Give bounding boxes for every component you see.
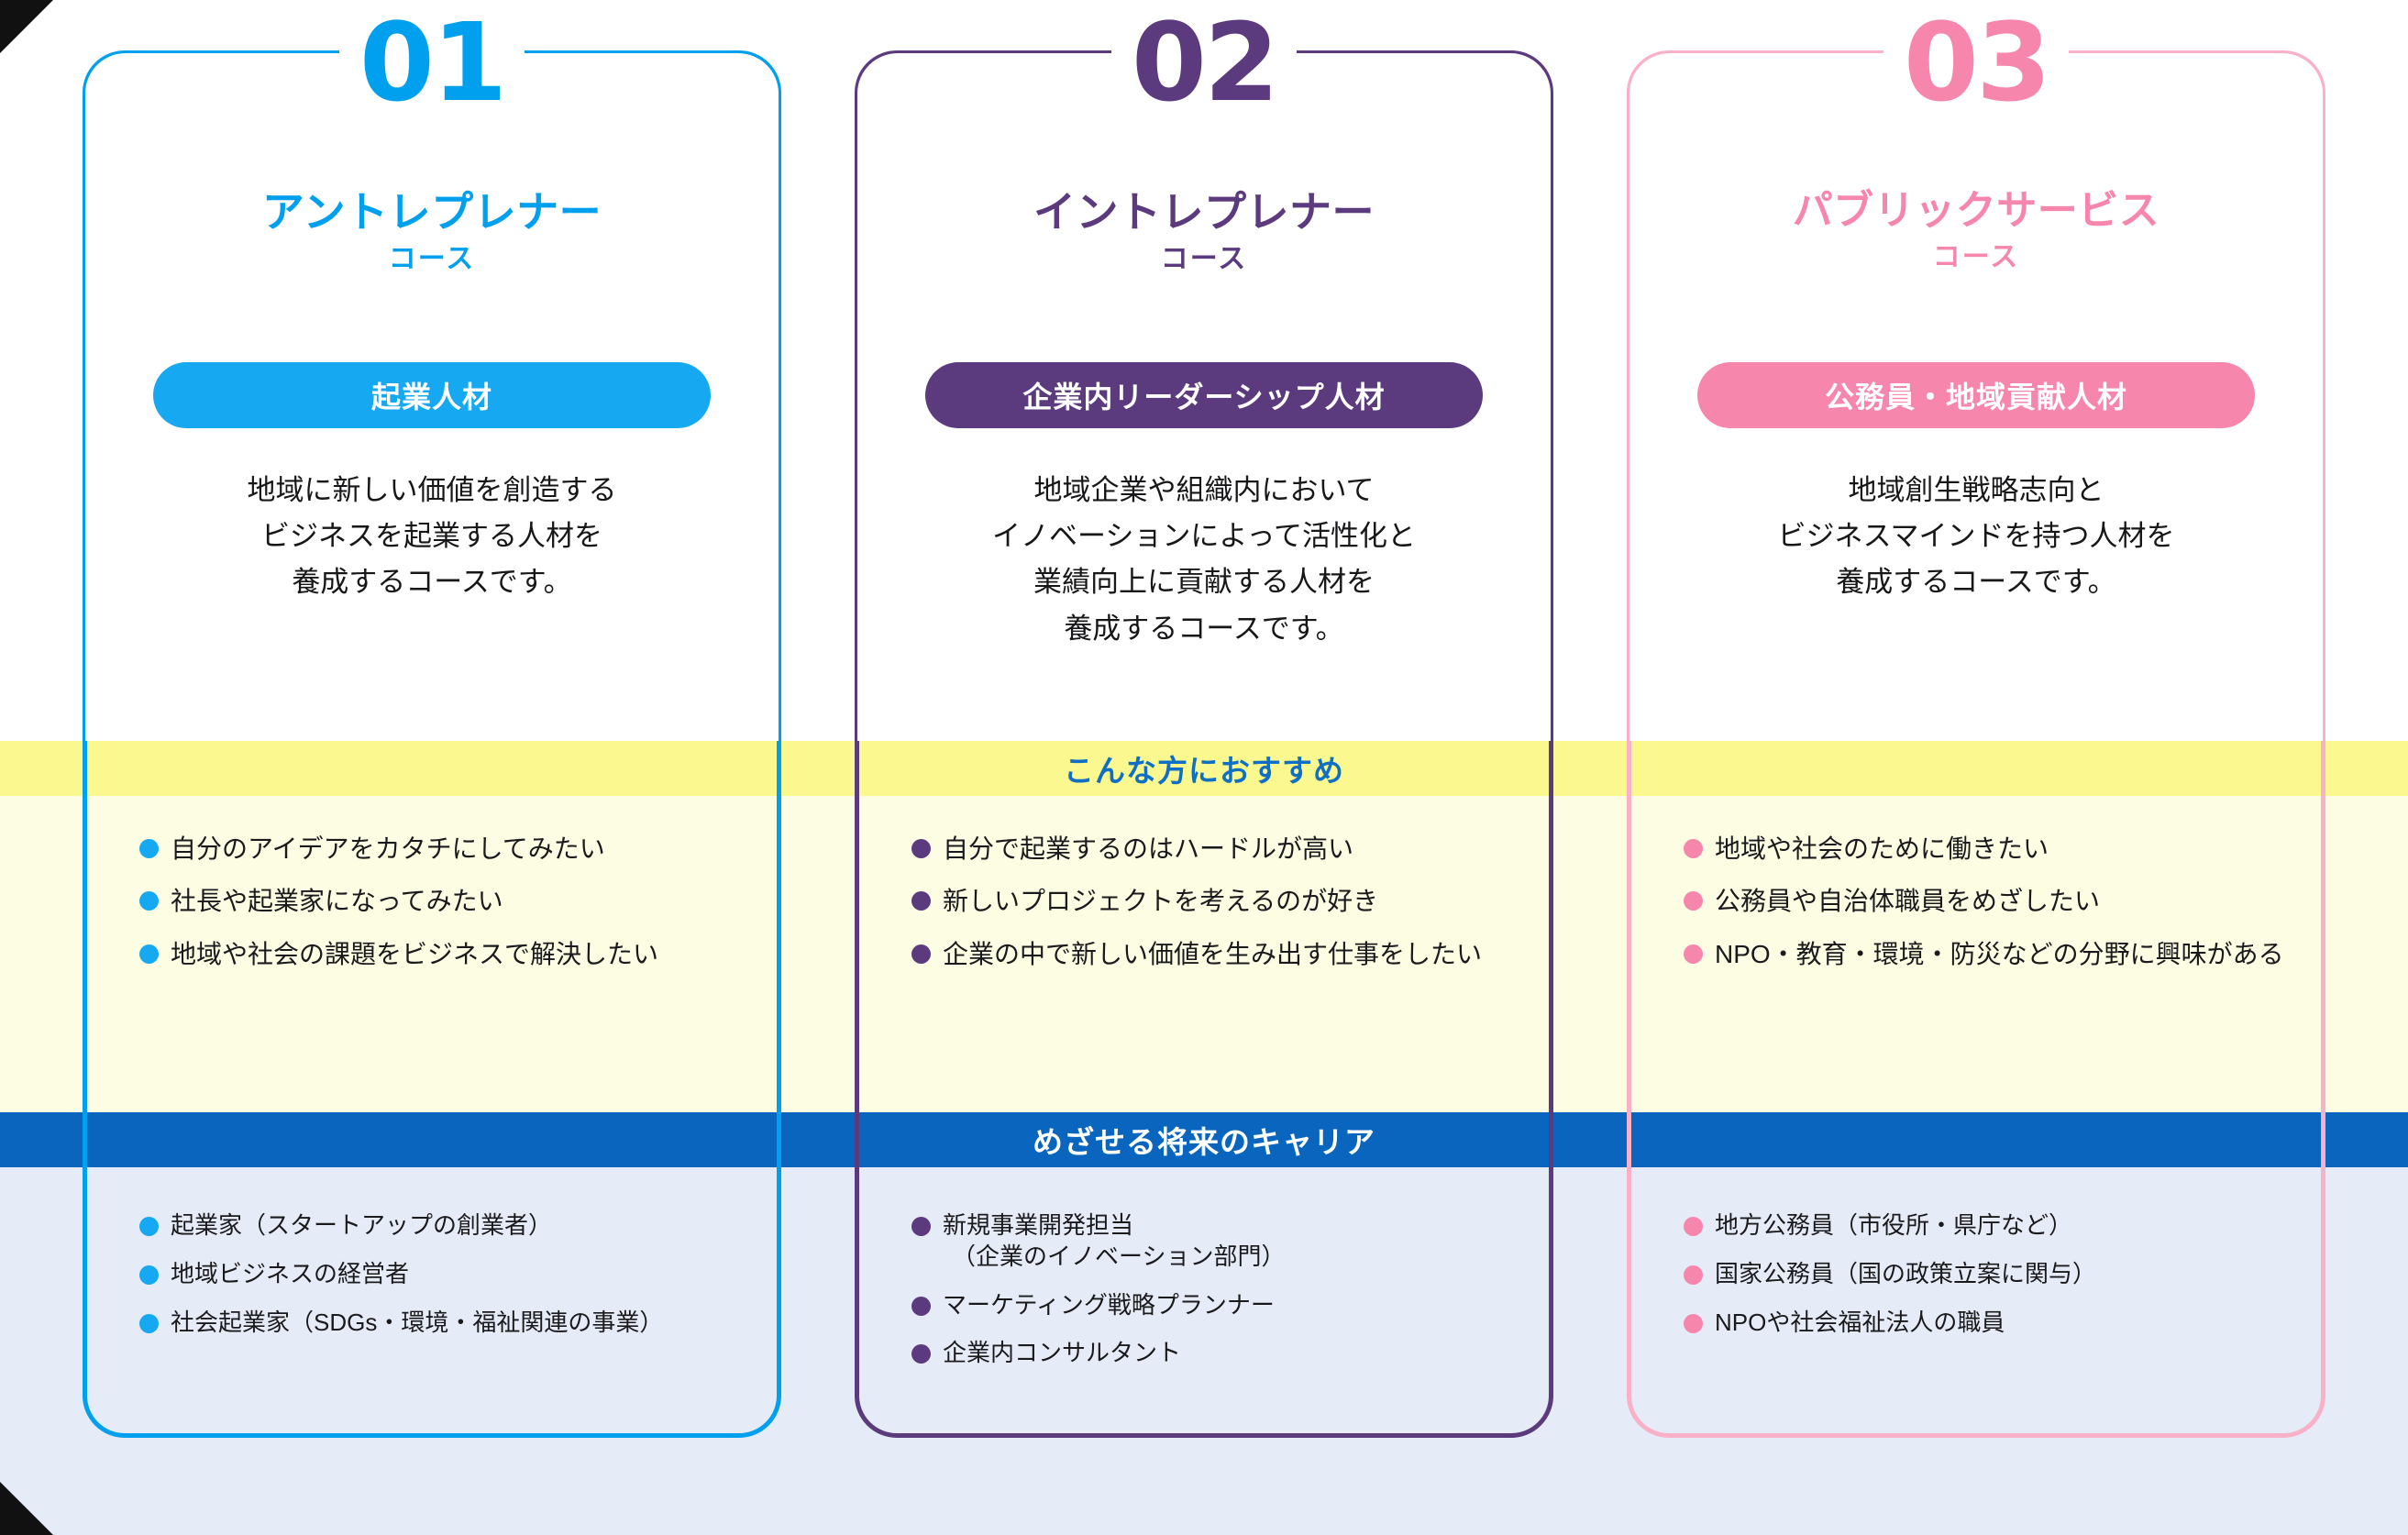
list-item-label: 地方公務員（市役所・県庁など） <box>1715 1210 2072 1242</box>
list-item: 地域や社会の課題をビジネスで解決したい <box>83 938 781 971</box>
corner-decoration-top-left <box>0 0 53 53</box>
list-item-label: 社長や起業家になってみたい <box>171 885 503 918</box>
course-tag-badge: 起業人材 <box>153 362 711 428</box>
list-item-label: 地域や社会の課題をビジネスで解決したい <box>171 938 658 971</box>
bullet-dot-icon <box>911 1344 931 1364</box>
bullet-dot-icon <box>1684 1265 1703 1285</box>
course-tag-container: 企業内リーダーシップ人材 <box>855 362 1553 428</box>
list-item: 地方公務員（市役所・県庁など） <box>1627 1210 2325 1242</box>
course-title-main: アントレプレナー <box>262 188 602 236</box>
career-list: 地方公務員（市役所・県庁など） 国家公務員（国の政策立案に関与） NPOや社会福… <box>1627 1210 2325 1355</box>
list-item: 起業家（スタートアップの創業者） <box>83 1210 781 1242</box>
recommend-list: 自分のアイデアをカタチにしてみたい 社長や起業家になってみたい 地域や社会の課題… <box>83 833 781 990</box>
bullet-dot-icon <box>139 1265 159 1285</box>
bullet-dot-icon <box>911 839 931 858</box>
card-number-label: 03 <box>1883 7 2069 117</box>
recommend-list: 地域や社会のために働きたい 公務員や自治体職員をめざしたい NPO・教育・環境・… <box>1627 833 2325 990</box>
course-description: 地域企業や組織内において イノベーションによって活性化と 業績向上に貢献する人材… <box>855 468 1553 652</box>
description-line: 養成するコースです。 <box>83 559 781 605</box>
course-title: イントレプレナー コース <box>855 188 1553 275</box>
bullet-dot-icon <box>139 944 159 964</box>
list-item: 地域や社会のために働きたい <box>1627 833 2325 866</box>
course-tag-badge: 企業内リーダーシップ人材 <box>925 362 1483 428</box>
list-item-label: 社会起業家（SDGs・環境・福祉関連の事業） <box>171 1308 663 1339</box>
list-item: 社会起業家（SDGs・環境・福祉関連の事業） <box>83 1308 781 1339</box>
bullet-dot-icon <box>1684 839 1703 858</box>
list-item: 新規事業開発担当（企業のイノベーション部門） <box>855 1210 1553 1273</box>
course-tag-container: 起業人材 <box>83 362 781 428</box>
bullet-dot-icon <box>139 1314 159 1333</box>
course-title-sub: コース <box>855 244 1553 276</box>
course-description: 地域に新しい価値を創造する ビジネスを起業する人材を 養成するコースです。 <box>83 468 781 606</box>
list-item: 自分のアイデアをカタチにしてみたい <box>83 833 781 866</box>
list-item-label: マーケティング戦略プランナー <box>943 1290 1275 1321</box>
recommend-list: 自分で起業するのはハードルが高い 新しいプロジェクトを考えるのが好き 企業の中で… <box>855 833 1553 990</box>
course-tag-badge: 公務員・地域貢献人材 <box>1697 362 2255 428</box>
recommend-band-title: こんな方におすすめ <box>0 741 2408 796</box>
course-title-sub: コース <box>83 244 781 276</box>
bullet-dot-icon <box>1684 891 1703 911</box>
list-item-label: 公務員や自治体職員をめざしたい <box>1715 885 2100 918</box>
list-item: NPOや社会福祉法人の職員 <box>1627 1308 2325 1339</box>
list-item-label: 新規事業開発担当 <box>943 1211 1133 1239</box>
corner-decoration-bottom-left <box>0 1482 53 1535</box>
card-number-label: 02 <box>1111 7 1297 117</box>
list-item-label: 自分のアイデアをカタチにしてみたい <box>171 833 605 866</box>
bullet-dot-icon <box>1684 944 1703 964</box>
list-item: 企業の中で新しい価値を生み出す仕事をしたい <box>855 938 1553 971</box>
bullet-dot-icon <box>911 1217 931 1236</box>
bullet-dot-icon <box>139 1217 159 1236</box>
list-item-label: 地域ビジネスの経営者 <box>171 1259 409 1290</box>
course-title: パブリックサービス コース <box>1627 188 2325 273</box>
list-item-label: 地域や社会のために働きたい <box>1715 833 2049 866</box>
list-item-label: 国家公務員（国の政策立案に関与） <box>1715 1259 2096 1290</box>
bullet-dot-icon <box>139 839 159 858</box>
bullet-dot-icon <box>1684 1314 1703 1333</box>
course-description: 地域創生戦略志向と ビジネスマインドを持つ人材を 養成するコースです。 <box>1627 468 2325 606</box>
description-line: 養成するコースです。 <box>855 606 1553 652</box>
list-item-label: NPOや社会福祉法人の職員 <box>1715 1308 2005 1339</box>
card-number-badge: 01 <box>83 7 781 117</box>
bullet-dot-icon <box>911 1297 931 1316</box>
career-list: 新規事業開発担当（企業のイノベーション部門） マーケティング戦略プランナー 企業… <box>855 1210 1553 1386</box>
bullet-dot-icon <box>911 891 931 911</box>
description-line: 養成するコースです。 <box>1627 559 2325 605</box>
course-title-sub: コース <box>1627 242 2325 274</box>
list-item: 新しいプロジェクトを考えるのが好き <box>855 885 1553 918</box>
list-item: 公務員や自治体職員をめざしたい <box>1627 885 2325 918</box>
list-item-label: 企業の中で新しい価値を生み出す仕事をしたい <box>943 938 1482 971</box>
list-item: 企業内コンサルタント <box>855 1338 1553 1369</box>
career-band-title: めざせる将来のキャリア <box>0 1112 2408 1167</box>
description-line: ビジネスを起業する人材を <box>83 514 781 559</box>
career-list: 起業家（スタートアップの創業者） 地域ビジネスの経営者 社会起業家（SDGs・環… <box>83 1210 781 1355</box>
list-item-label: 起業家（スタートアップの創業者） <box>171 1210 552 1242</box>
bullet-dot-icon <box>911 944 931 964</box>
course-tag-container: 公務員・地域貢献人材 <box>1627 362 2325 428</box>
list-item-label-group: 新規事業開発担当（企業のイノベーション部門） <box>943 1210 1285 1273</box>
list-item-label: 自分で起業するのはハードルが高い <box>943 833 1353 866</box>
description-line: 地域に新しい価値を創造する <box>83 468 781 514</box>
list-item-label: 新しいプロジェクトを考えるのが好き <box>943 885 1378 918</box>
list-item-label: NPO・教育・環境・防災などの分野に興味がある <box>1715 938 2284 971</box>
course-title: アントレプレナー コース <box>83 188 781 275</box>
course-title-main: イントレプレナー <box>1033 188 1375 236</box>
list-item-label: 企業内コンサルタント <box>943 1338 1181 1369</box>
bullet-dot-icon <box>1684 1217 1703 1236</box>
description-line: ビジネスマインドを持つ人材を <box>1627 514 2325 559</box>
list-item: 国家公務員（国の政策立案に関与） <box>1627 1259 2325 1290</box>
list-item: 社長や起業家になってみたい <box>83 885 781 918</box>
list-item: 自分で起業するのはハードルが高い <box>855 833 1553 866</box>
list-item: 地域ビジネスの経営者 <box>83 1259 781 1290</box>
list-item-sublabel: （企業のイノベーション部門） <box>943 1242 1285 1273</box>
description-line: 地域創生戦略志向と <box>1627 468 2325 514</box>
bullet-dot-icon <box>139 891 159 911</box>
card-number-badge: 02 <box>855 7 1553 117</box>
course-title-main: パブリックサービス <box>1793 188 2160 233</box>
card-number-label: 01 <box>339 7 525 117</box>
description-line: イノベーションによって活性化と <box>855 514 1553 559</box>
card-number-badge: 03 <box>1627 7 2325 117</box>
description-line: 地域企業や組織内において <box>855 468 1553 514</box>
description-line: 業績向上に貢献する人材を <box>855 559 1553 605</box>
list-item: マーケティング戦略プランナー <box>855 1290 1553 1321</box>
list-item: NPO・教育・環境・防災などの分野に興味がある <box>1627 938 2325 971</box>
